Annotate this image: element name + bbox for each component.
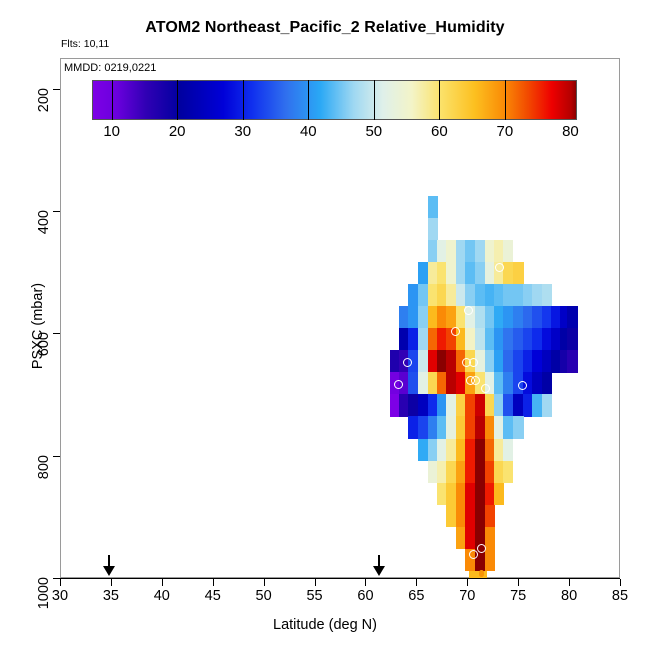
heatmap-cell	[475, 284, 485, 307]
heatmap-cell	[532, 328, 542, 351]
data-point-marker	[481, 384, 490, 393]
heatmap-cell	[475, 394, 485, 417]
x-axis-tick	[365, 579, 366, 586]
x-axis-tick-label: 40	[154, 588, 170, 604]
x-axis-tick-label: 80	[561, 588, 577, 604]
x-axis-tick-label: 75	[510, 588, 526, 604]
heatmap-cell	[418, 439, 428, 462]
heatmap-cell	[567, 350, 577, 373]
heatmap-cell	[503, 240, 513, 263]
heatmap-cell	[542, 372, 552, 395]
heatmap-cell	[418, 328, 428, 351]
heatmap-cell	[475, 262, 485, 285]
heatmap-cells	[60, 58, 620, 578]
heatmap-cell	[446, 483, 456, 506]
y-axis-tick-label: 200	[36, 88, 52, 132]
x-axis-tick	[213, 579, 214, 586]
x-axis-tick	[569, 579, 570, 586]
arrow-head	[103, 566, 115, 576]
y-axis-title: PSXC (mbar)	[30, 226, 46, 426]
data-point-marker	[451, 327, 460, 336]
x-axis-tick-label: 50	[256, 588, 272, 604]
heatmap-cell	[475, 461, 485, 484]
latitude-marker-arrow	[373, 555, 385, 577]
heatmap-cell	[513, 416, 523, 439]
heatmap-cell	[418, 372, 428, 395]
y-axis-tick-label: 800	[36, 455, 52, 499]
heatmap-cell	[542, 394, 552, 417]
x-axis-tick	[60, 579, 61, 586]
heatmap-cell	[532, 306, 542, 329]
heatmap-cell	[494, 483, 504, 506]
heatmap-cell	[485, 527, 495, 550]
heatmap-cell	[418, 350, 428, 373]
colorbar-tick-label: 40	[300, 123, 317, 140]
data-point-marker	[403, 358, 412, 367]
heatmap-cell	[418, 394, 428, 417]
heatmap-cell	[446, 461, 456, 484]
y-axis-tick-label: 1000	[36, 577, 52, 621]
heatmap-cell	[475, 416, 485, 439]
x-axis-tick	[264, 579, 265, 586]
heatmap-cell	[532, 394, 542, 417]
heatmap-cell	[475, 306, 485, 329]
heatmap-cell	[475, 328, 485, 351]
y-axis-tick	[53, 578, 60, 579]
colorbar-tick-label: 50	[365, 123, 382, 140]
heatmap-cell	[567, 306, 577, 329]
heatmap-cell	[503, 372, 513, 395]
data-point-marker	[464, 306, 473, 315]
colorbar-tick-label: 10	[103, 123, 120, 140]
colorbar-tick	[112, 80, 113, 120]
heatmap-cell	[418, 284, 428, 307]
heatmap-cell	[475, 505, 485, 528]
heatmap-cell	[532, 372, 542, 395]
colorbar-tick-label: 60	[431, 123, 448, 140]
x-axis-tick	[518, 579, 519, 586]
colorbar-tick-label: 20	[169, 123, 186, 140]
heatmap-cell	[503, 328, 513, 351]
heatmap-cell	[446, 262, 456, 285]
data-point-marker	[477, 544, 486, 553]
heatmap-cell	[485, 505, 495, 528]
arrow-head	[373, 566, 385, 576]
heatmap-cell	[446, 372, 456, 395]
heatmap-cell	[446, 284, 456, 307]
heatmap-cell	[446, 505, 456, 528]
x-axis-tick-label: 85	[612, 588, 628, 604]
colorbar-tick-label: 30	[234, 123, 251, 140]
x-axis-tick-label: 35	[103, 588, 119, 604]
data-point-marker	[471, 376, 480, 385]
y-axis-tick	[53, 333, 60, 334]
colorbar-tick-label: 70	[497, 123, 514, 140]
y-axis-tick	[53, 456, 60, 457]
data-point-marker	[469, 550, 478, 559]
axis-dot-marker	[479, 570, 484, 577]
heatmap-cell	[503, 284, 513, 307]
heatmap-cell	[503, 350, 513, 373]
heatmap-cell	[446, 416, 456, 439]
flights-label: Flts: 10,11	[61, 38, 109, 50]
x-axis-tick-label: 60	[357, 588, 373, 604]
colorbar-tick	[439, 80, 440, 120]
x-axis-tick-label: 30	[52, 588, 68, 604]
latitude-marker-arrow	[103, 555, 115, 577]
colorbar-gradient-fill	[93, 81, 576, 119]
heatmap-cell	[532, 284, 542, 307]
heatmap-cell	[503, 306, 513, 329]
data-point-marker	[469, 358, 478, 367]
heatmap-cell	[475, 483, 485, 506]
heatmap-cell	[446, 394, 456, 417]
heatmap-cell	[418, 416, 428, 439]
colorbar-tick	[505, 80, 506, 120]
heatmap-cell	[503, 416, 513, 439]
heatmap-cell	[446, 306, 456, 329]
y-axis-tick	[53, 211, 60, 212]
x-axis-tick	[467, 579, 468, 586]
heatmap-cell	[503, 262, 513, 285]
heatmap-cell	[567, 328, 577, 351]
heatmap-cell	[503, 439, 513, 462]
heatmap-cell	[532, 350, 542, 373]
x-axis-line	[60, 578, 620, 579]
heatmap-cell	[513, 262, 523, 285]
heatmap-cell	[503, 461, 513, 484]
x-axis-tick	[111, 579, 112, 586]
colorbar-tick	[177, 80, 178, 120]
heatmap-cell	[446, 439, 456, 462]
colorbar-tick-label: 80	[562, 123, 579, 140]
x-axis-tick-label: 55	[306, 588, 322, 604]
x-axis-tick-label: 45	[205, 588, 221, 604]
heatmap-cell	[428, 196, 438, 219]
y-axis-tick	[53, 89, 60, 90]
colorbar-tick	[308, 80, 309, 120]
colorbar-tick	[243, 80, 244, 120]
heatmap-cell	[446, 240, 456, 263]
page-title: ATOM2 Northeast_Pacific_2 Relative_Humid…	[0, 19, 650, 37]
heatmap-cell	[418, 306, 428, 329]
x-axis-tick	[416, 579, 417, 586]
x-axis-tick	[315, 579, 316, 586]
x-axis-tick-label: 65	[408, 588, 424, 604]
x-axis-tick-label: 70	[459, 588, 475, 604]
colorbar-tick	[374, 80, 375, 120]
x-axis-title: Latitude (deg N)	[0, 617, 650, 633]
data-point-marker	[394, 380, 403, 389]
x-axis-tick	[162, 579, 163, 586]
heatmap-cell	[542, 284, 552, 307]
chart-root: ATOM2 Northeast_Pacific_2 Relative_Humid…	[0, 0, 650, 650]
heatmap-cell	[428, 218, 438, 241]
x-axis-tick	[620, 579, 621, 586]
heatmap-cell	[418, 262, 428, 285]
heatmap-cell	[475, 439, 485, 462]
heatmap-cell	[503, 394, 513, 417]
heatmap-cell	[446, 350, 456, 373]
heatmap-cell	[475, 240, 485, 263]
heatmap-cell	[485, 549, 495, 572]
